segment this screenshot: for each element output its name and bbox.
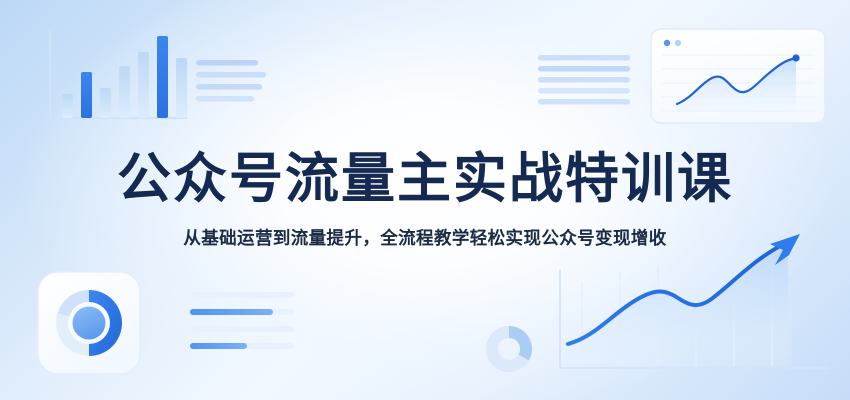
bar-3 [100,88,111,118]
donut-chart-card [36,270,142,376]
browser-card-svg [650,28,826,124]
page-title: 公众号流量主实战特训课 [117,150,733,208]
text-lines-top-left [196,58,266,102]
line-3 [538,77,630,83]
bar-chart-svg [40,28,190,128]
small-donut-svg [482,322,536,376]
line-1 [538,55,630,61]
progress-bars-svg [190,292,300,356]
progress-track-1 [190,292,294,298]
bar-7 [176,58,187,118]
line-4 [196,96,254,102]
donut-card-svg [36,270,142,376]
area-chart-svg [548,232,838,384]
text-lines-top-middle [538,55,630,107]
donut-center-disc [73,307,106,340]
bar-5 [138,52,149,118]
small-donut-highlight-segment [509,326,532,361]
window-dot-1-icon [664,40,670,46]
progress-fill-4 [190,343,247,349]
browser-card-line-chart [650,28,826,124]
line-2 [538,66,630,72]
course-banner: 公众号流量主实战特训课 从基础运营到流量提升，全流程教学轻松实现公众号变现增收 [0,0,850,400]
bar-6 [157,36,168,118]
bar-1 [62,94,73,118]
bar-4 [119,66,130,118]
text-lines-mid-svg [538,55,632,109]
window-dot-2-icon [675,40,681,46]
line-4 [538,88,630,94]
card-endpoint-marker [792,54,799,61]
bar-2 [81,72,92,118]
line-3 [196,84,262,90]
line-1 [196,60,258,66]
growth-area-chart [548,232,838,384]
small-donut-chart [482,322,534,374]
progress-fill-2 [190,309,273,315]
progress-track-3 [190,326,294,332]
line-5 [538,99,630,105]
text-lines-svg [196,58,268,104]
progress-bar-block [190,292,298,354]
line-2 [196,72,266,78]
bar-chart-decoration [40,28,190,128]
